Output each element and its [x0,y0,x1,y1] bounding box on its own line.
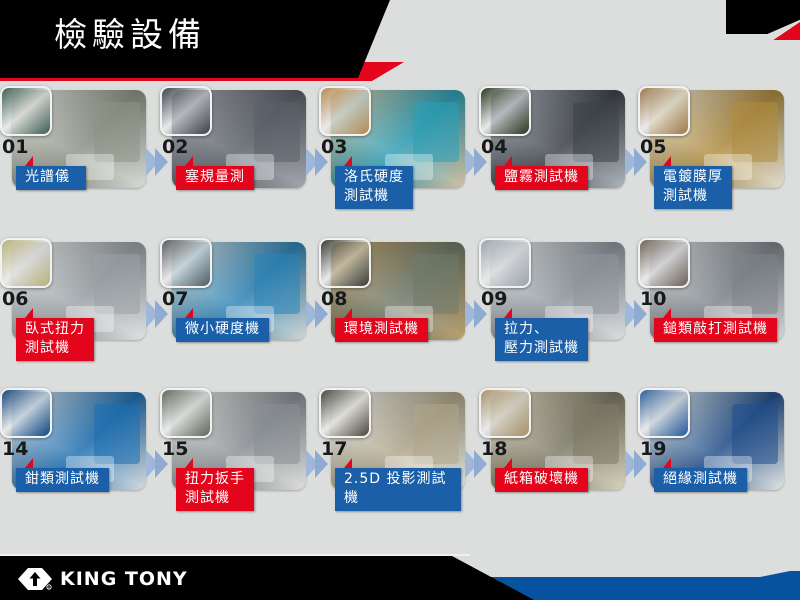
equipment-label: 光譜儀 [16,166,86,190]
equipment-thumbnail [160,238,212,288]
equipment-thumbnail [0,86,52,136]
equipment-label: 鉗類測試機 [16,468,109,492]
equipment-number: 06 [2,288,28,310]
photo-highlight [573,404,619,464]
equipment-card-14[interactable]: 14鉗類測試機 [0,388,146,538]
equipment-card-10[interactable]: 10鎚類敲打測試機 [638,238,784,388]
equipment-thumbnail [479,86,531,136]
equipment-label: 環境測試機 [335,318,428,342]
kingtony-arrow-hexagon-icon: R [18,568,52,590]
brand-logo: R KING TONY [18,566,188,592]
equipment-label: 塞規量測 [176,166,254,190]
flow-chevron-right-icon [465,148,485,176]
flow-chevron-right-icon [465,450,485,478]
photo-highlight [413,254,459,314]
equipment-label: 拉力、 壓力測試機 [495,318,588,361]
equipment-label: 洛氏硬度 測試機 [335,166,413,209]
equipment-thumbnail [319,238,371,288]
equipment-thumbnail [479,388,531,438]
svg-text:R: R [48,585,50,589]
equipment-row: 14鉗類測試機15扭力扳手 測試機172.5D 投影測試機18紙箱破壞機19絕緣… [0,388,800,538]
flow-chevron-right-icon [146,148,166,176]
equipment-card-08[interactable]: 08環境測試機 [319,238,465,388]
equipment-card-17[interactable]: 172.5D 投影測試機 [319,388,465,538]
page-title: 檢驗設備 [54,8,206,56]
equipment-label: 紙箱破壞機 [495,468,588,492]
photo-highlight [732,254,778,314]
equipment-card-07[interactable]: 07微小硬度機 [160,238,306,388]
photo-highlight [94,102,140,162]
equipment-thumbnail [160,388,212,438]
equipment-card-09[interactable]: 09拉力、 壓力測試機 [479,238,625,388]
photo-highlight [732,102,778,162]
equipment-label: 鎚類敲打測試機 [654,318,777,342]
equipment-row: 01光譜儀02塞規量測03洛氏硬度 測試機04鹽霧測試機05電鍍膜厚 測試機 [0,86,800,236]
equipment-thumbnail [479,238,531,288]
equipment-number: 01 [2,136,28,158]
photo-highlight [254,102,300,162]
equipment-card-15[interactable]: 15扭力扳手 測試機 [160,388,306,538]
equipment-thumbnail [0,238,52,288]
flow-chevron-right-icon [146,450,166,478]
equipment-card-06[interactable]: 06臥式扭力 測試機 [0,238,146,388]
equipment-card-05[interactable]: 05電鍍膜厚 測試機 [638,86,784,236]
header-corner-black [726,0,800,34]
equipment-number: 14 [2,438,28,460]
equipment-card-02[interactable]: 02塞規量測 [160,86,306,236]
equipment-label: 微小硬度機 [176,318,269,342]
flow-chevron-right-icon [306,450,326,478]
equipment-label: 電鍍膜厚 測試機 [654,166,732,209]
flow-chevron-right-icon [625,148,645,176]
equipment-card-18[interactable]: 18紙箱破壞機 [479,388,625,538]
photo-highlight [573,102,619,162]
equipment-card-03[interactable]: 03洛氏硬度 測試機 [319,86,465,236]
equipment-thumbnail [638,86,690,136]
equipment-label: 臥式扭力 測試機 [16,318,94,361]
photo-highlight [254,404,300,464]
equipment-thumbnail [0,388,52,438]
equipment-thumbnail [319,388,371,438]
equipment-label: 2.5D 投影測試機 [335,468,461,511]
equipment-card-04[interactable]: 04鹽霧測試機 [479,86,625,236]
photo-highlight [413,102,459,162]
equipment-grid: 01光譜儀02塞規量測03洛氏硬度 測試機04鹽霧測試機05電鍍膜厚 測試機06… [0,86,800,546]
flow-chevron-right-icon [625,300,645,328]
flow-chevron-right-icon [465,300,485,328]
photo-highlight [732,404,778,464]
equipment-card-19[interactable]: 19絕緣測試機 [638,388,784,538]
footer-divider [0,554,470,556]
brand-logo-text: KING TONY [60,568,188,590]
equipment-label: 扭力扳手 測試機 [176,468,254,511]
flow-chevron-right-icon [306,300,326,328]
photo-highlight [573,254,619,314]
equipment-thumbnail [160,86,212,136]
equipment-thumbnail [638,238,690,288]
equipment-card-01[interactable]: 01光譜儀 [0,86,146,236]
flow-chevron-right-icon [625,450,645,478]
equipment-thumbnail [638,388,690,438]
photo-highlight [254,254,300,314]
photo-highlight [413,404,459,464]
flow-chevron-right-icon [306,148,326,176]
equipment-label: 絕緣測試機 [654,468,747,492]
photo-highlight [94,404,140,464]
photo-highlight [94,254,140,314]
equipment-label: 鹽霧測試機 [495,166,588,190]
equipment-row: 06臥式扭力 測試機07微小硬度機08環境測試機09拉力、 壓力測試機10鎚類敲… [0,238,800,388]
equipment-thumbnail [319,86,371,136]
flow-chevron-right-icon [146,300,166,328]
